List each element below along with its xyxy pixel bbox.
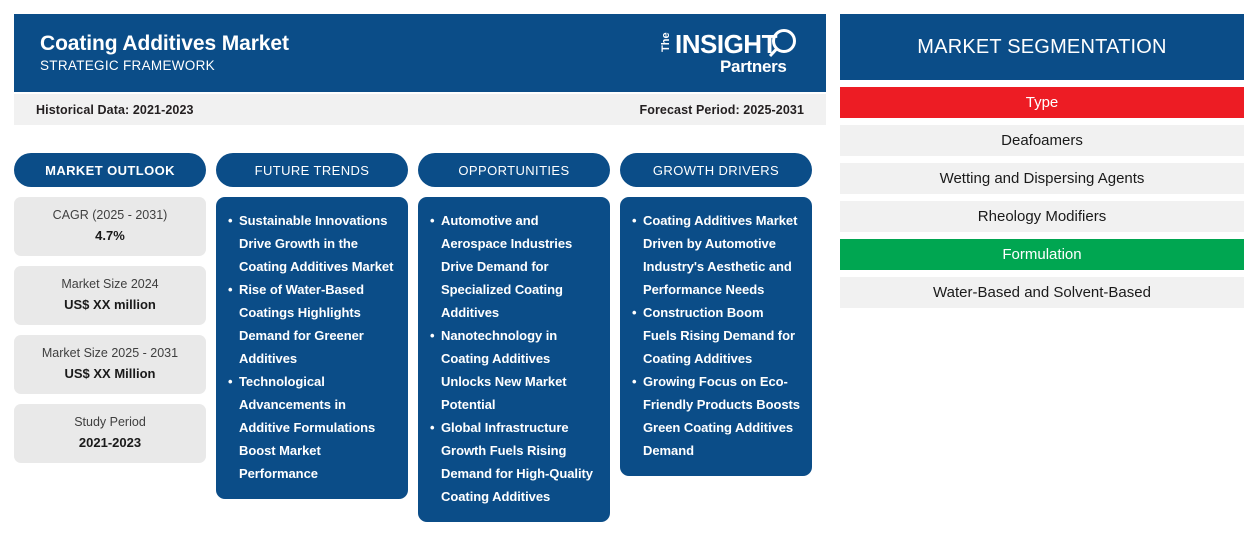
stat-card-market-size-forecast: Market Size 2025 - 2031 US$ XX Million [14, 335, 206, 394]
segment-item[interactable]: Wetting and Dispersing Agents [840, 163, 1244, 194]
list-item: Coating Additives Market Driven by Autom… [632, 209, 800, 301]
list-item: Growing Focus on Eco-Friendly Products B… [632, 370, 800, 462]
list-item: Automotive and Aerospace Industries Driv… [430, 209, 598, 324]
future-trends-title[interactable]: FUTURE TRENDS [216, 153, 408, 187]
segment-group-type[interactable]: Type [840, 87, 1244, 118]
list-item: Nanotechnology in Coating Additives Unlo… [430, 324, 598, 416]
svg-text:INSIGHT: INSIGHT [675, 29, 778, 59]
panel-header: Coating Additives Market STRATEGIC FRAME… [14, 14, 826, 92]
stat-label: Market Size 2024 [22, 277, 198, 292]
segment-group-formulation[interactable]: Formulation [840, 239, 1244, 270]
stat-label: CAGR (2025 - 2031) [22, 208, 198, 223]
column-market-outlook: MARKET OUTLOOK CAGR (2025 - 2031) 4.7% M… [14, 153, 206, 522]
opportunities-title[interactable]: OPPORTUNITIES [418, 153, 610, 187]
growth-drivers-title[interactable]: GROWTH DRIVERS [620, 153, 812, 187]
list-item: Sustainable Innovations Drive Growth in … [228, 209, 396, 278]
framework-columns: MARKET OUTLOOK CAGR (2025 - 2031) 4.7% M… [14, 153, 826, 522]
future-trends-list: Sustainable Innovations Drive Growth in … [228, 209, 396, 485]
future-trends-card: Sustainable Innovations Drive Growth in … [216, 197, 408, 499]
list-item: Global Infrastructure Growth Fuels Risin… [430, 416, 598, 508]
page-title: Coating Additives Market [40, 31, 289, 56]
page-subtitle: STRATEGIC FRAMEWORK [40, 57, 289, 75]
historical-data-label: Historical Data: 2021-2023 [36, 103, 194, 117]
stat-value: US$ XX million [22, 297, 198, 313]
header-title-group: Coating Additives Market STRATEGIC FRAME… [40, 31, 289, 75]
period-bar: Historical Data: 2021-2023 Forecast Peri… [14, 94, 826, 125]
stat-card-market-size-2024: Market Size 2024 US$ XX million [14, 266, 206, 325]
market-segmentation-panel: MARKET SEGMENTATION Type Deafoamers Wett… [840, 14, 1244, 315]
stat-value: 2021-2023 [22, 435, 198, 451]
stat-card-cagr: CAGR (2025 - 2031) 4.7% [14, 197, 206, 256]
segment-item[interactable]: Rheology Modifiers [840, 201, 1244, 232]
list-item: Construction Boom Fuels Rising Demand fo… [632, 301, 800, 370]
infographic-root: Coating Additives Market STRATEGIC FRAME… [0, 0, 1254, 554]
stat-label: Study Period [22, 415, 198, 430]
strategic-framework-panel: Coating Additives Market STRATEGIC FRAME… [14, 14, 826, 540]
segment-item[interactable]: Deafoamers [840, 125, 1244, 156]
opportunities-list: Automotive and Aerospace Industries Driv… [430, 209, 598, 508]
market-outlook-title[interactable]: MARKET OUTLOOK [14, 153, 206, 187]
forecast-period-label: Forecast Period: 2025-2031 [640, 103, 805, 117]
column-growth-drivers: GROWTH DRIVERS Coating Additives Market … [620, 153, 812, 522]
stat-value: US$ XX Million [22, 366, 198, 382]
segmentation-title: MARKET SEGMENTATION [840, 14, 1244, 80]
column-future-trends: FUTURE TRENDS Sustainable Innovations Dr… [216, 153, 408, 522]
the-insight-partners-logo: The INSIGHT Partners [658, 26, 804, 80]
column-opportunities: OPPORTUNITIES Automotive and Aerospace I… [418, 153, 610, 522]
stat-label: Market Size 2025 - 2031 [22, 346, 198, 361]
opportunities-card: Automotive and Aerospace Industries Driv… [418, 197, 610, 522]
stat-value: 4.7% [22, 228, 198, 244]
list-item: Rise of Water-Based Coatings Highlights … [228, 278, 396, 370]
list-item: Technological Advancements in Additive F… [228, 370, 396, 485]
stat-card-study-period: Study Period 2021-2023 [14, 404, 206, 463]
svg-text:The: The [660, 32, 672, 52]
svg-text:Partners: Partners [720, 57, 787, 76]
growth-drivers-card: Coating Additives Market Driven by Autom… [620, 197, 812, 476]
growth-drivers-list: Coating Additives Market Driven by Autom… [632, 209, 800, 462]
segment-item[interactable]: Water-Based and Solvent-Based [840, 277, 1244, 308]
